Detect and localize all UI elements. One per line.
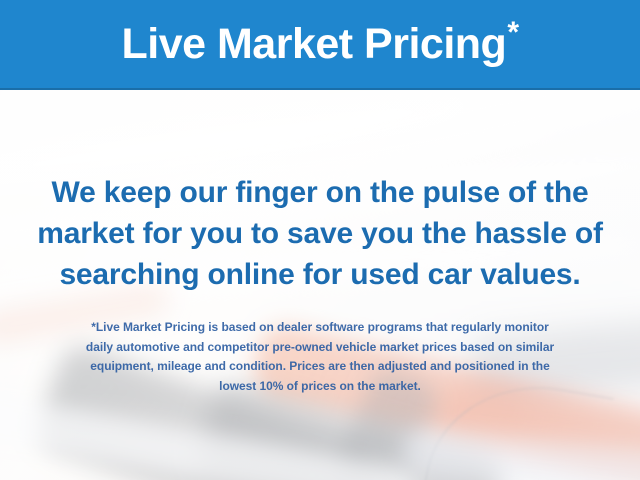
headline: We keep our finger on the pulse of the m… [0, 172, 640, 295]
page-title: Live Market Pricing* [122, 23, 519, 66]
headline-line: searching online for used car values. [0, 254, 640, 295]
page-title-text: Live Market Pricing [122, 20, 507, 68]
disclaimer: *Live Market Pricing is based on dealer … [0, 318, 640, 396]
disclaimer-line: lowest 10% of prices on the market. [0, 377, 640, 397]
disclaimer-line: *Live Market Pricing is based on dealer … [0, 318, 640, 338]
title-asterisk: * [507, 16, 518, 49]
disclaimer-line: daily automotive and competitor pre-owne… [0, 338, 640, 358]
disclaimer-line: equipment, mileage and condition. Prices… [0, 357, 640, 377]
header-bar: Live Market Pricing* [0, 0, 640, 90]
live-market-pricing-banner: Live Market Pricing* We keep our finger … [0, 0, 640, 480]
headline-line: market for you to save you the hassle of [0, 213, 640, 254]
headline-line: We keep our finger on the pulse of the [0, 172, 640, 213]
